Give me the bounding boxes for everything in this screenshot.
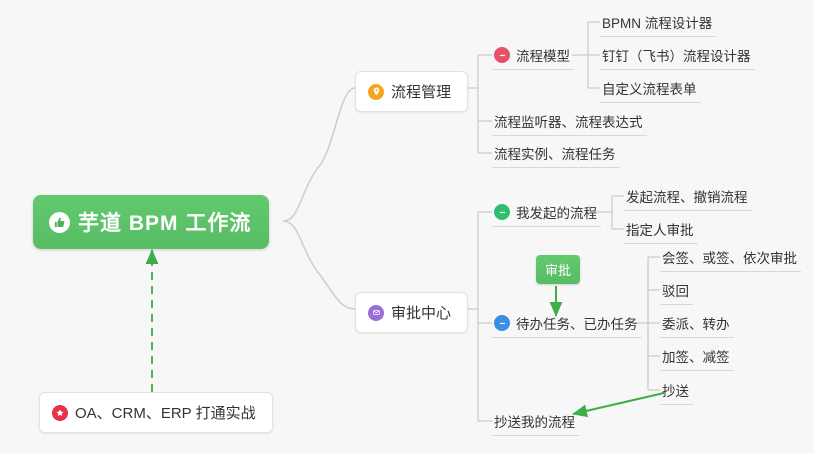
node-instance-task[interactable]: 流程实例、流程任务 — [492, 140, 620, 168]
node-label: 抄送我的流程 — [494, 411, 575, 431]
node-start-cancel-process[interactable]: 发起流程、撤销流程 — [624, 183, 752, 211]
node-todo-done-tasks[interactable]: 待办任务、已办任务 — [492, 310, 642, 338]
mindmap-canvas: 芋道 BPM 工作流 流程管理 流程模型 BPMN 流程设计器 钉钉（飞书）流程… — [0, 0, 814, 453]
tag-label: 审批 — [545, 263, 571, 278]
mail-circle-icon — [368, 305, 384, 321]
node-reject[interactable]: 驳回 — [660, 277, 693, 305]
node-label: 待办任务、已办任务 — [516, 313, 638, 333]
node-listener-expression[interactable]: 流程监听器、流程表达式 — [492, 108, 647, 136]
node-my-initiated[interactable]: 我发起的流程 — [492, 199, 601, 227]
node-label: BPMN 流程设计器 — [602, 12, 712, 32]
node-label: 我发起的流程 — [516, 202, 597, 222]
node-label: 流程模型 — [516, 45, 570, 65]
node-bpmn-designer[interactable]: BPMN 流程设计器 — [600, 9, 716, 37]
node-label: 自定义流程表单 — [602, 78, 697, 98]
tag-approval[interactable]: 审批 — [536, 255, 580, 284]
node-label: 委派、转办 — [662, 313, 730, 333]
minus-circle-icon — [494, 47, 510, 63]
node-dingtalk-designer[interactable]: 钉钉（飞书）流程设计器 — [600, 42, 755, 70]
branch-approval-center[interactable]: 审批中心 — [355, 292, 468, 333]
node-cc[interactable]: 抄送 — [660, 377, 693, 405]
node-add-remove-sign[interactable]: 加签、减签 — [660, 343, 734, 371]
node-label: 会签、或签、依次审批 — [662, 247, 797, 267]
node-custom-form[interactable]: 自定义流程表单 — [600, 75, 701, 103]
root-label: 芋道 BPM 工作流 — [78, 207, 251, 237]
minus-circle-icon — [494, 315, 510, 331]
thumbs-up-icon — [49, 212, 70, 233]
node-label: 驳回 — [662, 280, 689, 300]
footnote-label: OA、CRM、ERP 打通实战 — [75, 402, 256, 423]
branch-label: 流程管理 — [391, 81, 451, 102]
node-label: 抄送 — [662, 380, 689, 400]
node-label: 流程实例、流程任务 — [494, 143, 616, 163]
branch-process-management[interactable]: 流程管理 — [355, 71, 468, 112]
node-countersign[interactable]: 会签、或签、依次审批 — [660, 244, 801, 272]
node-label: 指定人审批 — [626, 219, 694, 239]
footnote-node[interactable]: OA、CRM、ERP 打通实战 — [39, 392, 273, 433]
node-label: 加签、减签 — [662, 346, 730, 366]
node-process-model[interactable]: 流程模型 — [492, 42, 574, 70]
star-circle-icon — [52, 405, 68, 421]
node-label: 流程监听器、流程表达式 — [494, 111, 643, 131]
node-label: 发起流程、撤销流程 — [626, 186, 748, 206]
location-pin-icon — [368, 84, 384, 100]
node-cc-to-me[interactable]: 抄送我的流程 — [492, 408, 579, 436]
node-assigned-approver[interactable]: 指定人审批 — [624, 216, 698, 244]
branch-label: 审批中心 — [391, 302, 451, 323]
node-label: 钉钉（飞书）流程设计器 — [602, 45, 751, 65]
minus-circle-icon — [494, 204, 510, 220]
node-delegate-transfer[interactable]: 委派、转办 — [660, 310, 734, 338]
root-node[interactable]: 芋道 BPM 工作流 — [33, 195, 269, 249]
